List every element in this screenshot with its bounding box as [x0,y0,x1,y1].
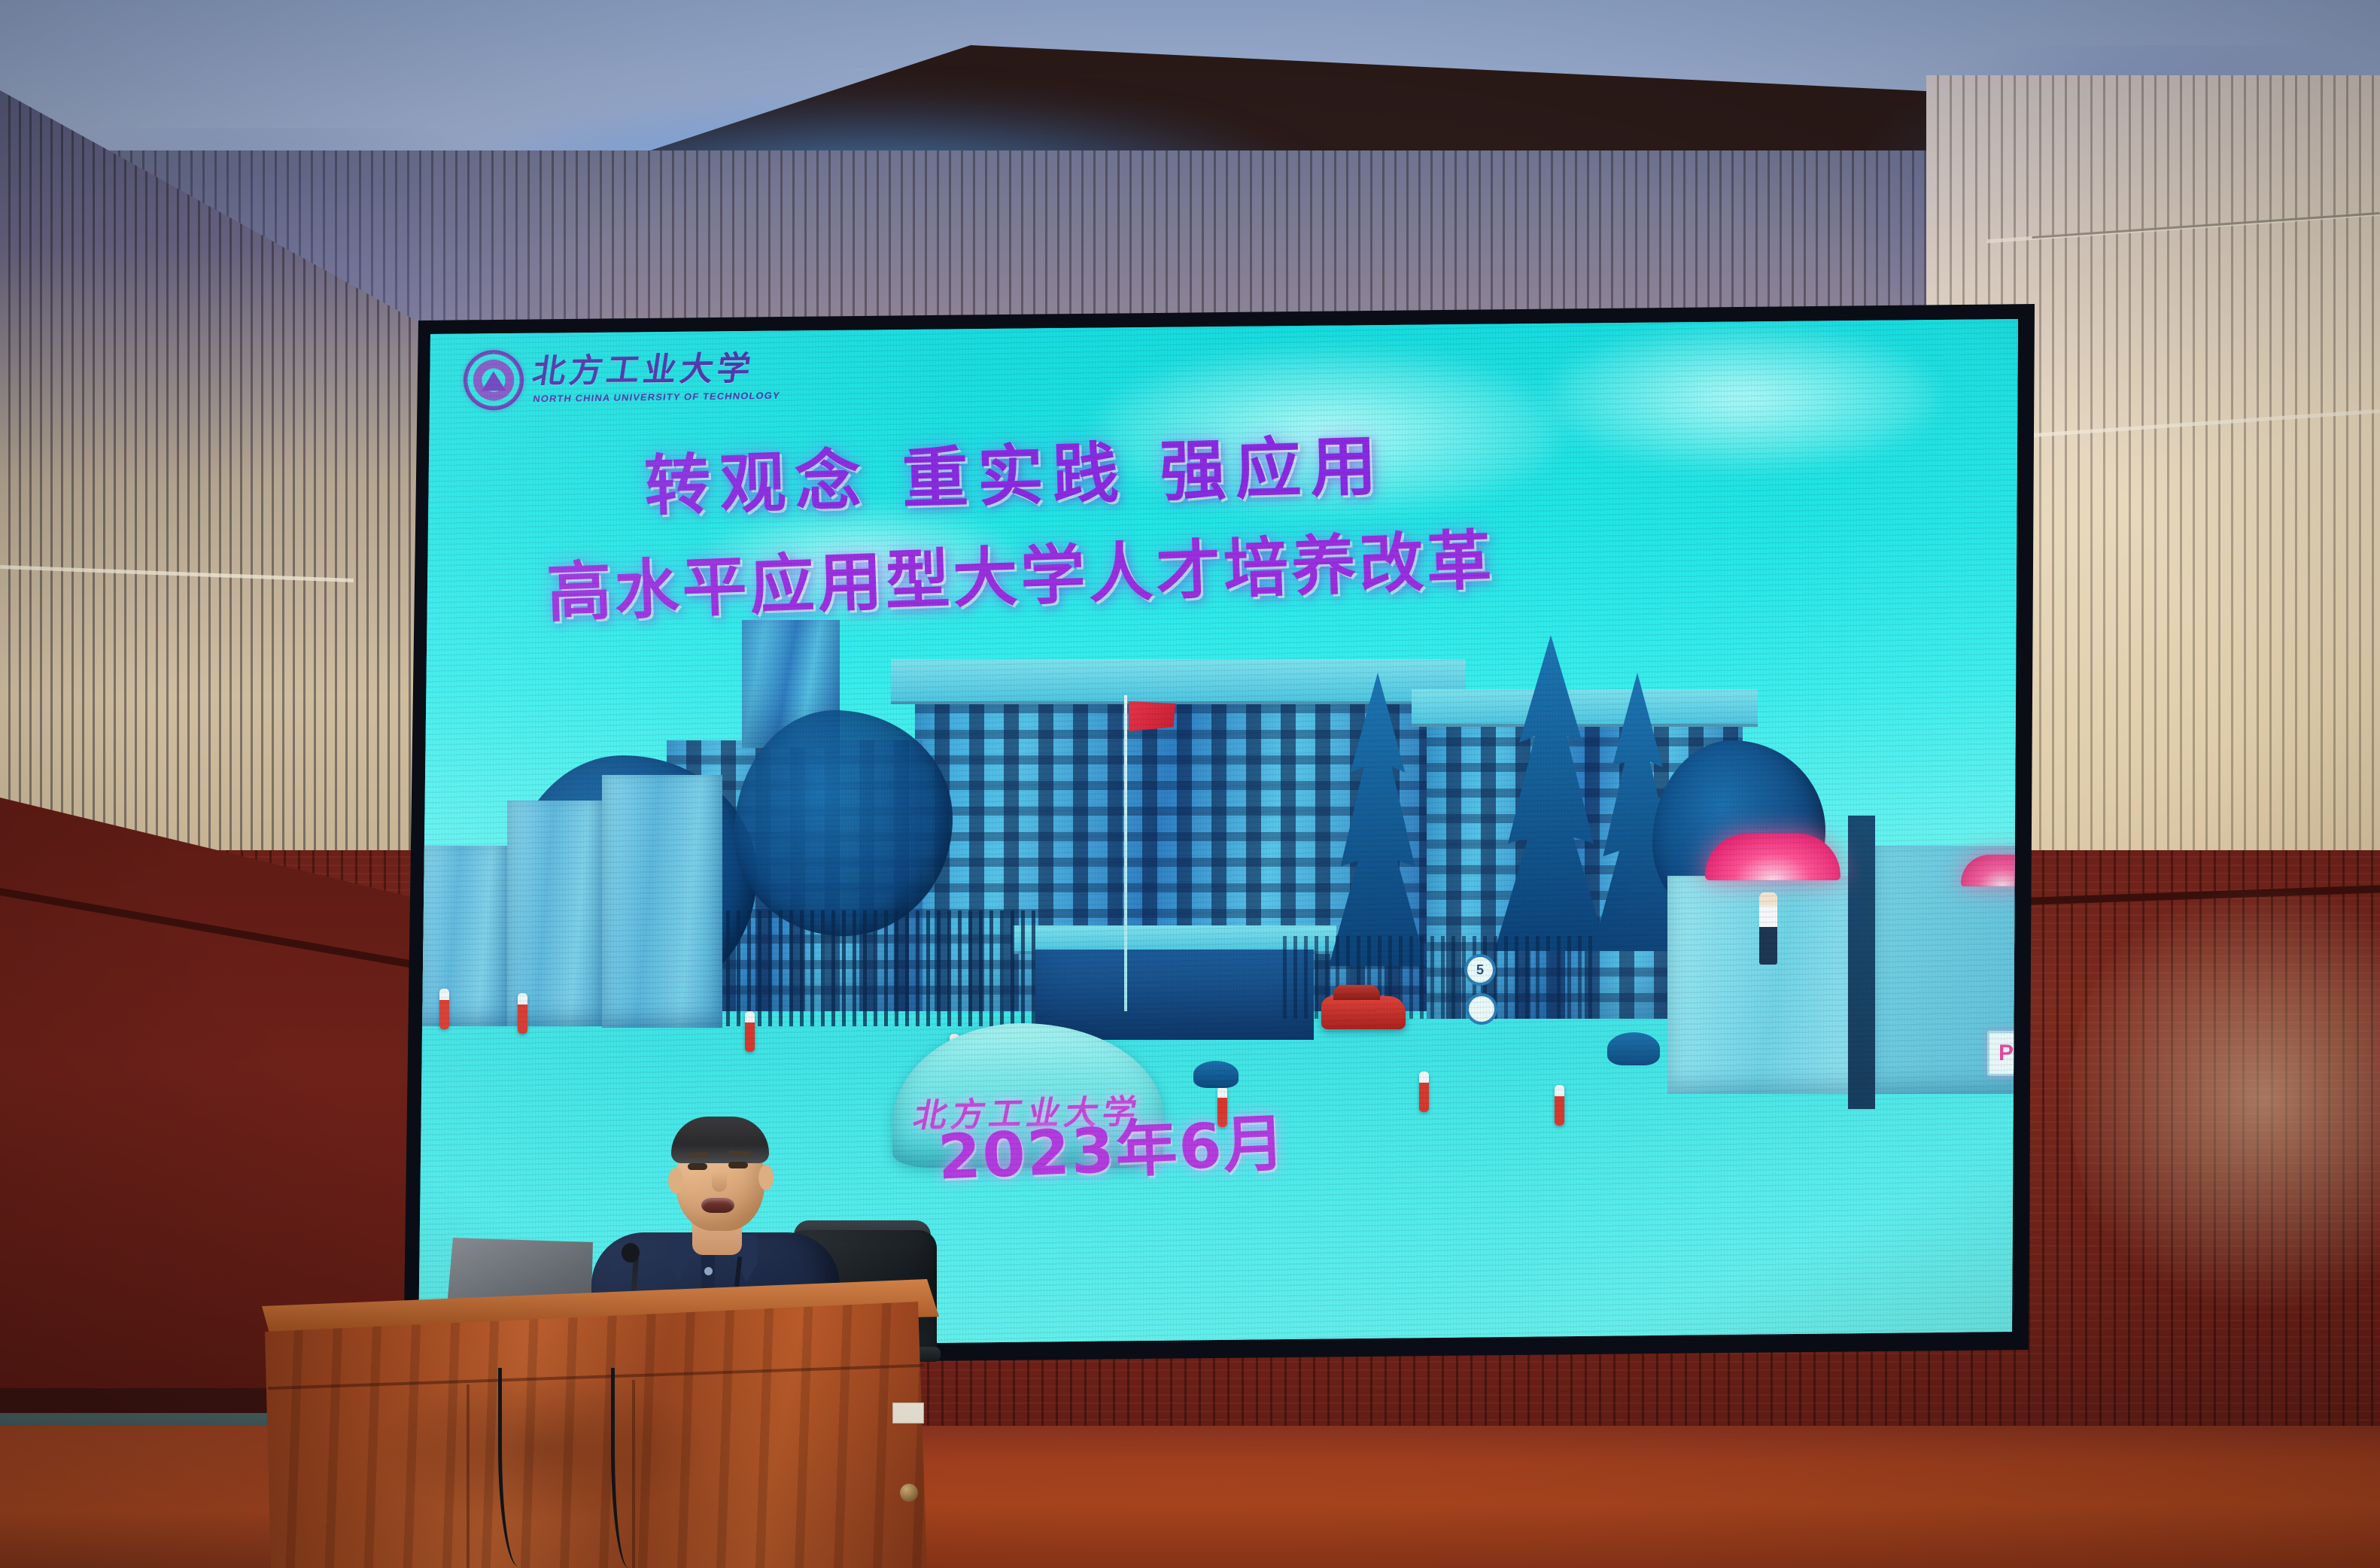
university-name-en: NORTH CHINA UNIVERSITY OF TECHNOLOGY [532,390,780,403]
presenter-nose [712,1172,727,1192]
pink-umbrella [1705,834,1840,880]
campus-gate-slab [602,775,722,1028]
campus-tree [734,710,953,936]
bollard [439,989,449,1029]
speed-limit-sign: 5 [1464,954,1496,986]
building-roof-right [1412,689,1758,727]
traffic-sign-secondary [1466,993,1497,1025]
shrub [1607,1032,1660,1065]
microphone-capsule-icon [622,1243,640,1263]
lectern-vertical-seam [467,1384,470,1568]
polo-button-icon [704,1267,713,1275]
shrub [1193,1061,1239,1088]
university-logo-text: 北方工业大学 NORTH CHINA UNIVERSITY OF TECHNOL… [533,352,780,404]
parked-car [1321,996,1406,1029]
building-entrance [1035,950,1314,1040]
university-name-cn: 北方工业大学 [530,352,783,389]
security-guard [1759,892,1777,965]
gatehouse-pillar [1848,816,1875,1109]
campus-gate-slab [418,846,509,1026]
university-seal-icon [463,350,524,411]
cloud-shape [1547,327,1938,469]
presenter-mouth [701,1198,734,1213]
lectern-cable-grommet-icon [900,1484,918,1502]
lecture-hall-scene: 5 P P 北方工业大学 北方工业大学 NORTH CHINA UNIVERSI… [0,0,2380,1568]
presenter-ear-left [668,1168,683,1193]
chinese-flag-icon [1129,701,1175,731]
bollard [518,993,527,1034]
lectern-wood-grain [265,1302,927,1568]
lectern-id-plate [892,1402,924,1424]
eye-right [728,1162,748,1168]
flagpole [1124,695,1127,1011]
campus-fence [719,910,1035,1026]
presenter-ear-right [758,1165,774,1190]
campus-gate-slab [507,801,605,1026]
eye-left [688,1163,707,1170]
university-logo: 北方工业大学 NORTH CHINA UNIVERSITY OF TECHNOL… [463,342,764,415]
parking-sign-right: P [1987,1031,2018,1076]
bollard [745,1011,755,1052]
slide-date: 2023年6月 [936,1092,1288,1196]
bollard [1555,1085,1564,1126]
floor-left-section [0,1426,271,1568]
bollard [1419,1071,1429,1112]
wooden-lectern[interactable] [265,1302,927,1568]
